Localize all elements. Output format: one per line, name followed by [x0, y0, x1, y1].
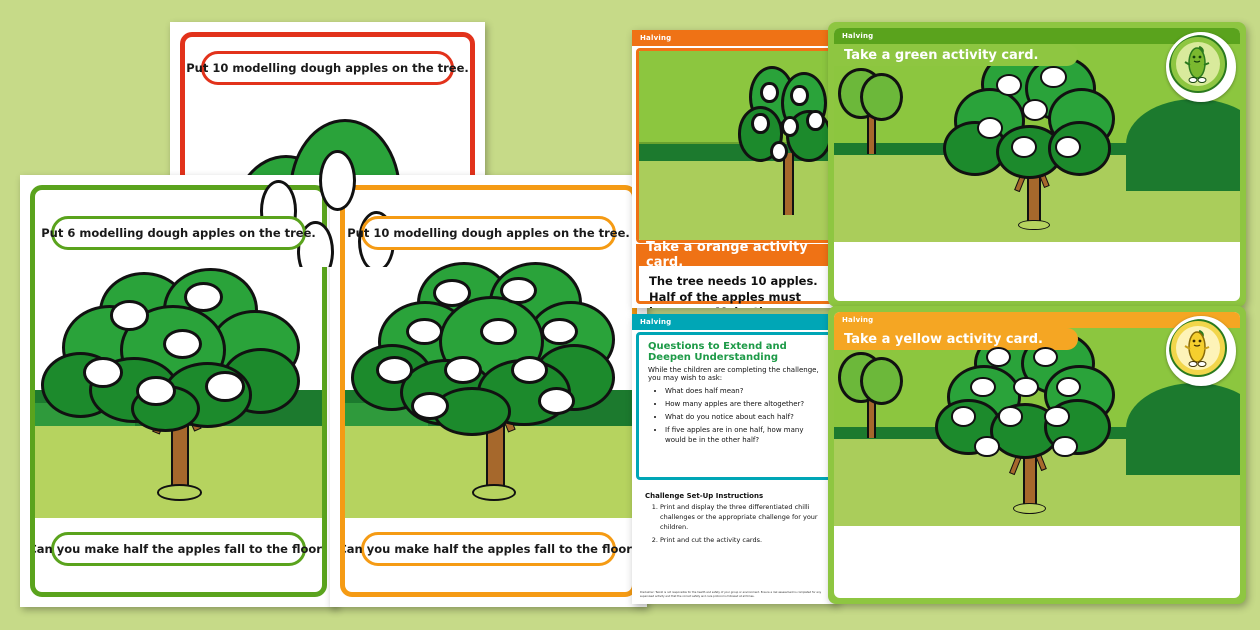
card-orange-tree-scene	[345, 262, 632, 518]
apple-spot	[1040, 66, 1066, 88]
apple-spot	[136, 376, 176, 407]
sheet-blue-header-label: Halving	[640, 318, 671, 326]
sheet-orange-scene-frame	[636, 48, 833, 243]
apple-spot	[998, 406, 1023, 426]
apple-spot	[538, 387, 575, 415]
apple-spot	[411, 392, 448, 420]
challenge-card-orange[interactable]: Put 10 modelling dough apples on the tre…	[330, 175, 647, 607]
green-chilli-icon	[1169, 35, 1227, 93]
apple-spot	[541, 318, 578, 346]
apple-spot	[511, 356, 548, 384]
apple-spot	[1044, 406, 1069, 426]
card-orange-bottom-text: Can you make half the apples fall to the…	[361, 532, 616, 566]
apple-spot	[433, 279, 470, 307]
apple-spot	[996, 74, 1022, 96]
activity-sheet-green[interactable]: Halving	[828, 22, 1246, 307]
apple-spot	[1011, 136, 1037, 158]
apple-tree	[940, 52, 1127, 234]
apple-spot	[974, 436, 999, 456]
sheet-orange-header: Halving	[632, 30, 837, 46]
apple-spot	[500, 277, 537, 305]
apple-spot	[83, 357, 123, 388]
sheet-green-bar-title: Take a green activity card.	[844, 48, 1038, 63]
card-orange-top-text: Put 10 modelling dough apples on the tre…	[361, 216, 616, 250]
card-red-top-text: Put 10 modelling dough apples on the tre…	[201, 51, 454, 85]
apple-tree	[731, 66, 830, 221]
sheet-orange-body: The tree needs 10 apples. Half of the ap…	[639, 266, 830, 308]
background-tree	[838, 68, 903, 151]
questions-title: Questions to Extend and Deepen Understan…	[639, 335, 830, 366]
apple-spot	[205, 371, 245, 402]
question-item: What does half mean?	[665, 386, 821, 397]
poster-canvas: Put 10 modelling dough apples on the tre…	[0, 0, 1260, 630]
apple-spot	[1022, 99, 1048, 121]
card-green-top-text: Put 6 modelling dough apples on the tree…	[51, 216, 306, 250]
sheet-green-action-bar: Take a green activity card.	[834, 44, 1078, 66]
sheet-orange-tree-scene	[639, 51, 830, 240]
setup-step: Print and display the three differentiat…	[660, 503, 824, 532]
apple-spot	[951, 406, 976, 426]
setup-list: Print and display the three differentiat…	[636, 503, 833, 546]
apple-spot	[1052, 436, 1077, 456]
sheet-yellow-header-label: Halving	[842, 316, 873, 324]
green-chilli-badge	[1166, 32, 1236, 102]
apple-tree	[931, 332, 1126, 518]
card-inner-border: Put 10 modelling dough apples on the tre…	[340, 185, 637, 597]
activity-sheet-yellow[interactable]: Halving	[828, 306, 1246, 604]
apple-spot	[376, 356, 413, 384]
setup-instructions-block: Challenge Set-Up Instructions Print and …	[636, 486, 833, 550]
apple-tree	[351, 267, 627, 508]
card-green-bottom-text: Can you make half the apples fall to the…	[51, 532, 306, 566]
activity-sheet-orange[interactable]: Halving	[632, 30, 837, 308]
sheet-yellow-bar-title: Take a yellow activity card.	[844, 332, 1043, 347]
sheet-blue-header: Halving	[632, 314, 837, 330]
sheet-green-header-label: Halving	[842, 32, 873, 40]
card-green-tree-scene	[35, 262, 322, 518]
apple-spot	[970, 377, 995, 397]
yellow-chilli-icon	[1169, 319, 1227, 377]
disclaimer-text: Disclaimer: Twinkl is not responsible fo…	[640, 591, 829, 599]
background-tree	[838, 352, 903, 435]
setup-step: Print and cut the activity cards.	[660, 536, 824, 546]
yellow-chilli-badge	[1166, 316, 1236, 386]
questions-intro: While the children are completing the ch…	[639, 366, 830, 386]
sheet-orange-header-label: Halving	[640, 34, 671, 42]
question-item: If five apples are in one half, how many…	[665, 425, 821, 447]
question-item: How many apples are there altogether?	[665, 399, 821, 410]
card-inner-border: Put 6 modelling dough apples on the tree…	[30, 185, 327, 597]
questions-list: What does half mean? How many apples are…	[639, 386, 830, 446]
setup-title: Challenge Set-Up Instructions	[636, 486, 833, 503]
sheet-orange-action-bar: Take a orange activity card.	[636, 244, 833, 266]
challenge-card-green[interactable]: Put 6 modelling dough apples on the tree…	[20, 175, 337, 607]
questions-box: Questions to Extend and Deepen Understan…	[636, 332, 833, 480]
apple-spot	[1055, 136, 1081, 158]
question-item: What do you notice about each half?	[665, 412, 821, 423]
activity-sheet-questions[interactable]: Halving Questions to Extend and Deepen U…	[632, 314, 837, 604]
apple-spot	[1013, 377, 1038, 397]
sheet-orange-body-frame: The tree needs 10 apples. Half of the ap…	[636, 266, 833, 304]
apple-spot	[444, 356, 481, 384]
apple-tree	[46, 272, 310, 508]
apple-spot	[406, 318, 443, 346]
